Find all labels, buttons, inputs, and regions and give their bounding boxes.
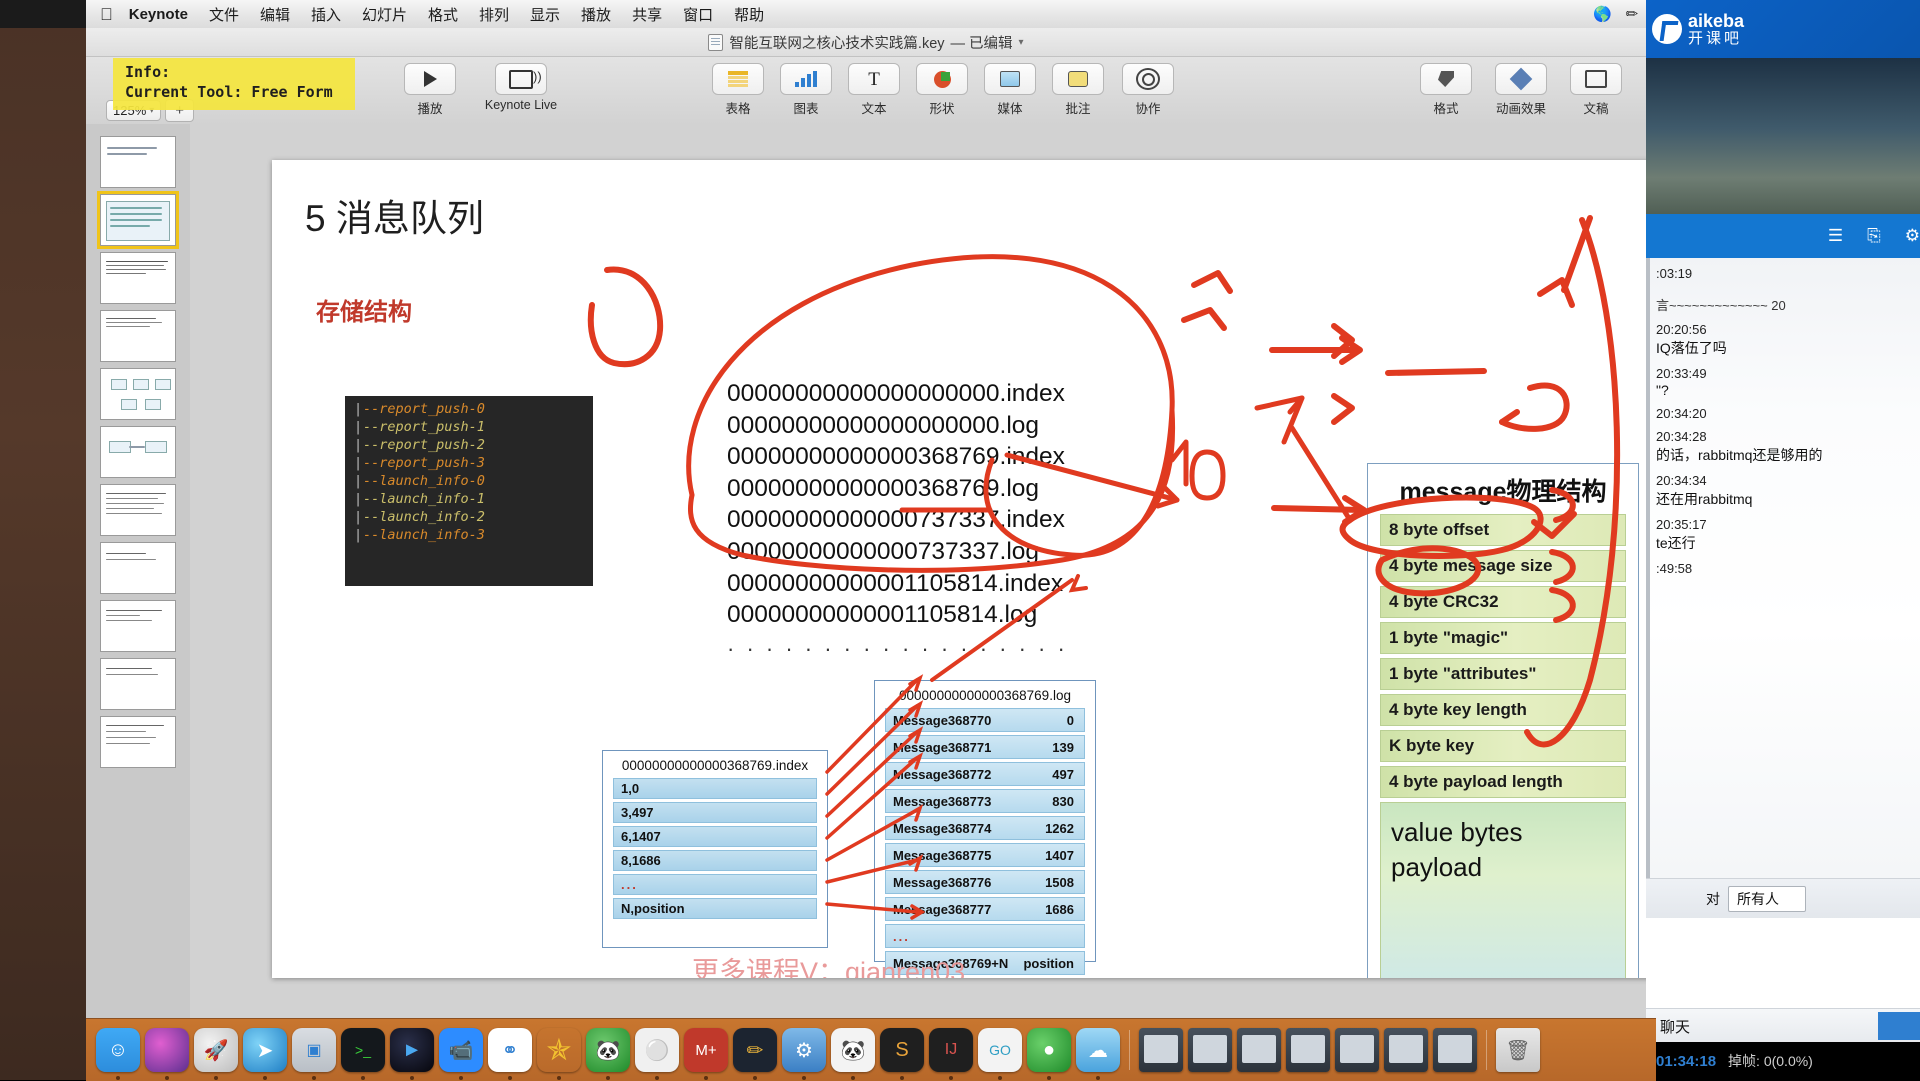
log-row-offset: 0: [1067, 713, 1074, 728]
log-row-name: Message368774: [893, 821, 991, 836]
payload-line-1: value bytes: [1391, 815, 1625, 850]
code-line: --launch_info-3: [345, 526, 593, 544]
code-line: --launch_info-2: [345, 508, 593, 526]
evernote-icon[interactable]: 🐼: [586, 1028, 630, 1072]
slide-subtitle: 存储结构: [316, 292, 412, 327]
siri-icon[interactable]: [145, 1028, 189, 1072]
index-row: 3,497: [613, 802, 817, 823]
toolbar-text-button[interactable]: T 文本: [842, 63, 906, 117]
brand-sub: 开课吧: [1688, 31, 1744, 47]
index-row: N,position: [613, 898, 817, 919]
log-row-name: Message368773: [893, 794, 991, 809]
message-field-row: 4 byte message size: [1380, 550, 1626, 582]
code-line: --launch_info-0: [345, 472, 593, 490]
chat-entry: :49:58: [1646, 561, 1920, 576]
window-titlebar: 智能互联网之核心技术实践篇.key — 已编辑 ▾: [86, 28, 1646, 57]
apple-menu-icon[interactable]: : [100, 6, 113, 23]
chat-time: :03:19: [1656, 266, 1914, 281]
chat-time: 20:35:17: [1656, 517, 1914, 532]
shape-icon: [916, 63, 968, 95]
file-list-item: 00000000000001105814.log: [727, 599, 1068, 631]
onedrive-icon[interactable]: ☁: [1076, 1028, 1120, 1072]
keynote-window: 智能互联网之核心技术实践篇.key — 已编辑 ▾ 125% ▾ + 缩放 添加…: [86, 28, 1646, 1018]
log-row-name: Message368776: [893, 875, 991, 890]
chat-recipient-row: 对 所有人: [1646, 878, 1920, 919]
animate-icon: [1495, 63, 1547, 95]
toolbar-shape-label: 形状: [929, 98, 954, 117]
play-icon: [404, 63, 456, 95]
chart-icon: [780, 63, 832, 95]
menu-bar:  Keynote 文件 编辑 插入 幻灯片 格式 排列 显示 播放 共享 窗口…: [86, 0, 1920, 29]
file-list-item: 00000000000000000000.log: [727, 410, 1068, 442]
status-bar: 01:34:18 掉帧: 0(0.0%): [1646, 1042, 1920, 1080]
chat-bottom-bar: 聊天: [1646, 1008, 1920, 1043]
window-6[interactable]: [1384, 1028, 1428, 1072]
slide-thumbnail[interactable]: [100, 136, 176, 188]
chat-message: 的话，rabbitmq还是够用的: [1656, 445, 1914, 465]
log-table-box: 00000000000000368769.log Message368770 0…: [874, 680, 1096, 962]
message-field-row: 4 byte key length: [1380, 694, 1626, 726]
log-row-offset: 497: [1052, 767, 1074, 782]
log-row: Message368770 0: [885, 708, 1085, 732]
window-title: 智能互联网之核心技术实践篇.key — 已编辑 ▾: [708, 32, 1023, 53]
screen-share-icon[interactable]: ⎘: [1867, 226, 1881, 246]
log-row-offset: 1686: [1045, 902, 1074, 917]
toolbar-collaborate-button[interactable]: 协作: [1116, 63, 1180, 117]
comment-icon: [1052, 63, 1104, 95]
menu-item-format[interactable]: 格式: [428, 4, 458, 25]
index-row: 1,0: [613, 778, 817, 799]
slide-thumbnail-selected[interactable]: [100, 194, 176, 246]
chevron-down-icon[interactable]: ▾: [1019, 37, 1024, 48]
desktop-left-strip: [0, 0, 86, 1080]
dock-separator: [1486, 1030, 1487, 1070]
log-row-name: Message368771: [893, 740, 991, 755]
menu-item-insert[interactable]: 插入: [311, 4, 341, 25]
message-field-row: 8 byte offset: [1380, 514, 1626, 546]
desktop-left-top: [0, 0, 86, 28]
slide-thumbnail[interactable]: [100, 600, 176, 652]
keynote-live-icon: [495, 63, 547, 95]
photos-icon[interactable]: ✯: [537, 1028, 581, 1072]
zoom-icon[interactable]: 📹: [439, 1028, 483, 1072]
chat-recipient-label: 对: [1706, 889, 1720, 909]
index-row: 8,1686: [613, 850, 817, 871]
chat-entry: 20:34:28 的话，rabbitmq还是够用的: [1646, 429, 1920, 465]
toolbar-chart-button[interactable]: 图表: [774, 63, 838, 117]
chat-entry: 20:20:56 IQ落伍了吗: [1646, 322, 1920, 358]
file-list-ellipsis: · · · · · · · · · · · · · · · · · ·: [727, 635, 1068, 663]
dock: ☺ 🚀 ➤ ▣ >_ ► 📹 ⚭ ✯ 🐼 ⚪ M+ ✏ ⚙ 🐼 S IJ GO …: [86, 1018, 1656, 1081]
file-list-item: 00000000000000737337.log: [727, 536, 1068, 568]
slide-thumbnail[interactable]: [100, 310, 176, 362]
file-list-item: 00000000000000737337.index: [727, 504, 1068, 536]
chat-time: 20:33:49: [1656, 366, 1914, 381]
toolbar-group-inspector: 格式 动画效果 文稿: [1414, 63, 1628, 117]
send-button[interactable]: [1878, 1012, 1920, 1040]
index-row-ellipsis: ...: [613, 874, 817, 895]
go-icon[interactable]: GO: [978, 1028, 1022, 1072]
menu-item-file[interactable]: 文件: [209, 4, 239, 25]
page-title: 5 消息队列: [305, 188, 484, 242]
launchpad-icon[interactable]: 🚀: [194, 1028, 238, 1072]
log-row-offset: 830: [1052, 794, 1074, 809]
toolbar-chart-label: 图表: [793, 98, 818, 117]
toolbar-group-insert: 表格 图表 T 文本 形状 媒体: [706, 63, 1110, 117]
log-row-name: Message368770: [893, 713, 991, 728]
chat-entry: 20:34:20: [1646, 406, 1920, 421]
window-3[interactable]: [1237, 1028, 1281, 1072]
window-5[interactable]: [1335, 1028, 1379, 1072]
code-line: --report_push-2: [345, 436, 593, 454]
toolbar-document-button[interactable]: 文稿: [1564, 63, 1628, 117]
file-list-item: 00000000000001105814.index: [727, 568, 1068, 600]
index-table-title: 00000000000000368769.index: [603, 751, 827, 778]
log-row-offset: position: [1023, 956, 1074, 971]
globe-icon[interactable]: 🌎: [1593, 7, 1612, 22]
chrome-icon[interactable]: ●: [1027, 1028, 1071, 1072]
baidu-netdisk-icon[interactable]: ⚭: [488, 1028, 532, 1072]
brand-mark-icon: [1652, 14, 1682, 44]
slide-thumbnail[interactable]: [100, 542, 176, 594]
brand-name: aikeba: [1688, 12, 1744, 31]
message-field-row: 4 byte CRC32: [1380, 586, 1626, 618]
menu-item-help[interactable]: 帮助: [734, 4, 764, 25]
toolbar-text-label: 文本: [861, 98, 886, 117]
quicktime-icon[interactable]: ►: [390, 1028, 434, 1072]
chat-time: 20:34:20: [1656, 406, 1914, 421]
file-list-item: 00000000000000368769.log: [727, 473, 1068, 505]
toolbar-group-collaborate: 协作: [1116, 63, 1180, 117]
sketch-icon[interactable]: ✏: [733, 1028, 777, 1072]
slide-thumbnail[interactable]: [100, 484, 176, 536]
message-field-row: 4 byte payload length: [1380, 766, 1626, 798]
toolbar-table-button[interactable]: 表格: [706, 63, 770, 117]
menu-item-window[interactable]: 窗口: [683, 4, 713, 25]
message-payload-block: value bytes payload: [1380, 802, 1626, 978]
safari-icon[interactable]: ➤: [243, 1028, 287, 1072]
document-icon: [1570, 63, 1622, 95]
log-row: Message368771 139: [885, 735, 1085, 759]
menu-item-keynote[interactable]: Keynote: [129, 6, 188, 23]
pen-icon[interactable]: ✏: [1626, 7, 1639, 22]
menu-item-play[interactable]: 播放: [581, 4, 611, 25]
chat-message: IQ落伍了吗: [1656, 338, 1914, 358]
slide-thumbnail[interactable]: [100, 426, 176, 478]
menu-item-share[interactable]: 共享: [632, 4, 662, 25]
elapsed-time: 01:34:18: [1656, 1053, 1716, 1070]
chat-time: 20:20:56: [1656, 322, 1914, 337]
chat-entry: 20:34:34 还在用rabbitmq: [1646, 473, 1920, 509]
message-structure-title: message物理结构: [1368, 464, 1638, 514]
log-row-name: Message368775: [893, 848, 991, 863]
slide-canvas[interactable]: 5 消息队列 存储结构 --report_push-0 --report_pus…: [190, 124, 1646, 1018]
chat-time: 20:34:28: [1656, 429, 1914, 444]
slide-thumbnail[interactable]: [100, 716, 176, 768]
file-list-item: 00000000000000000000.index: [727, 378, 1068, 410]
gear-icon[interactable]: ⚙: [1905, 226, 1920, 246]
code-block: --report_push-0 --report_push-1 --report…: [345, 396, 593, 586]
message-field-row: 1 byte "attributes": [1380, 658, 1626, 690]
log-row-offset: 1508: [1045, 875, 1074, 890]
log-row-name: ...: [893, 929, 910, 944]
log-table-title: 00000000000000368769.log: [875, 681, 1095, 708]
window-1[interactable]: [1139, 1028, 1183, 1072]
tooltip-line-1: Info:: [125, 63, 347, 83]
chat-entry: 20:33:49 "?: [1646, 366, 1920, 398]
log-row: Message368774 1262: [885, 816, 1085, 840]
window-2[interactable]: [1188, 1028, 1232, 1072]
toolbar-comment-button[interactable]: 批注: [1046, 63, 1110, 117]
menu-item-slide[interactable]: 幻灯片: [362, 4, 407, 25]
log-row: Message368772 497: [885, 762, 1085, 786]
chat-recipient-select[interactable]: 所有人: [1728, 886, 1806, 912]
log-row: Message368775 1407: [885, 843, 1085, 867]
payload-line-2: payload: [1391, 850, 1625, 885]
keynote-icon[interactable]: ▣: [292, 1028, 336, 1072]
toolbar-format-button[interactable]: 格式: [1414, 63, 1478, 117]
log-row-offset: 1407: [1045, 848, 1074, 863]
chat-tab-label[interactable]: 聊天: [1660, 1016, 1690, 1037]
toolbar-keynote-live-label: Keynote Live: [485, 98, 557, 112]
toolbar-play-button[interactable]: 播放: [398, 63, 462, 117]
code-line: --launch_info-1: [345, 490, 593, 508]
media-icon: [984, 63, 1036, 95]
tooltip-line-2: Current Tool: Free Form: [125, 83, 347, 103]
toolbar-format-label: 格式: [1433, 98, 1458, 117]
chat-time: :49:58: [1656, 561, 1914, 576]
slide-thumbnail[interactable]: [100, 368, 176, 420]
bear-icon[interactable]: M+: [684, 1028, 728, 1072]
desktop:  Keynote 文件 编辑 插入 幻灯片 格式 排列 显示 播放 共享 窗口…: [0, 0, 1920, 1080]
toolbar-group-playback: 播放 Keynote Live: [398, 63, 576, 117]
log-row-name: Message368777: [893, 902, 991, 917]
toolbar-collaborate-label: 协作: [1135, 98, 1160, 117]
log-row: Message368776 1508: [885, 870, 1085, 894]
chat-message: te还行: [1656, 533, 1914, 553]
brand-logo: aikeba 开课吧: [1646, 0, 1920, 58]
menu-item-arrange[interactable]: 排列: [479, 4, 509, 25]
log-row: Message368777 1686: [885, 897, 1085, 921]
slide-thumbnail[interactable]: [100, 658, 176, 710]
toolbar-animate-label: 动画效果: [1496, 98, 1546, 117]
brand-text: aikeba 开课吧: [1688, 12, 1744, 47]
mindnode-icon[interactable]: ⚪: [635, 1028, 679, 1072]
signal-bars-icon[interactable]: ☰: [1828, 226, 1843, 246]
trash-icon[interactable]: 🗑: [1496, 1028, 1540, 1072]
current-slide[interactable]: 5 消息队列 存储结构 --report_push-0 --report_pus…: [272, 160, 1727, 978]
chat-separator: 言~~~~~~~~~~~~~ 20: [1656, 295, 1914, 314]
video-controls-bar: ☰ ⎘ ⚙: [1646, 214, 1920, 258]
index-table-box: 00000000000000368769.index 1,0 3,497 6,1…: [602, 750, 828, 948]
slide-footer-watermark: 更多课程V：qianren03: [692, 950, 965, 978]
chat-entry: :03:19: [1646, 266, 1920, 281]
window-7[interactable]: [1433, 1028, 1477, 1072]
code-line: --report_push-1: [345, 418, 593, 436]
toolbar-keynote-live-button[interactable]: Keynote Live: [466, 63, 576, 117]
chat-time: 20:34:34: [1656, 473, 1914, 488]
chat-entry: 言~~~~~~~~~~~~~ 20: [1646, 295, 1920, 314]
menu-item-edit[interactable]: 编辑: [260, 4, 290, 25]
format-icon: [1420, 63, 1472, 95]
terminal-icon[interactable]: >_: [341, 1028, 385, 1072]
info-tooltip: Info: Current Tool: Free Form: [113, 58, 355, 110]
message-field-row: K byte key: [1380, 730, 1626, 762]
window-title-text: 智能互联网之核心技术实践篇.key: [729, 32, 944, 53]
collaborate-icon: [1122, 63, 1174, 95]
log-row: Message368773 830: [885, 789, 1085, 813]
log-row-name: Message368772: [893, 767, 991, 782]
code-line: --report_push-0: [345, 400, 593, 418]
window-4[interactable]: [1286, 1028, 1330, 1072]
finder-icon[interactable]: ☺: [96, 1028, 140, 1072]
segment-file-list: 00000000000000000000.index 0000000000000…: [727, 378, 1068, 663]
right-panel: aikeba 开课吧 ☰ ⎘ ⚙ :03:19 言~~~~~~~~~~~~~ 2…: [1646, 0, 1920, 1080]
charles-icon[interactable]: 🐼: [831, 1028, 875, 1072]
toolbar-media-label: 媒体: [997, 98, 1022, 117]
toolbar-shape-button[interactable]: 形状: [910, 63, 974, 117]
chat-message: "?: [1656, 382, 1914, 398]
sublime-icon[interactable]: S: [880, 1028, 924, 1072]
toolbar-comment-label: 批注: [1065, 98, 1090, 117]
chat-entry: 20:35:17 te还行: [1646, 517, 1920, 553]
message-field-row: 1 byte "magic": [1380, 622, 1626, 654]
xmind-icon[interactable]: ⚙: [782, 1028, 826, 1072]
window-edited-state: — 已编辑: [951, 32, 1013, 53]
chat-input[interactable]: [1646, 918, 1920, 1008]
code-line: --report_push-3: [345, 454, 593, 472]
text-icon: T: [848, 63, 900, 95]
chat-scrollbar[interactable]: [1646, 258, 1650, 878]
log-row-offset: 1262: [1045, 821, 1074, 836]
index-row: 6,1407: [613, 826, 817, 847]
table-icon: [712, 63, 764, 95]
file-list-item: 00000000000000368769.index: [727, 441, 1068, 473]
slide-navigator[interactable]: [86, 124, 191, 1018]
toolbar-table-label: 表格: [725, 98, 750, 117]
toolbar-media-button[interactable]: 媒体: [978, 63, 1042, 117]
slide-thumbnail[interactable]: [100, 252, 176, 304]
dock-separator: [1129, 1030, 1130, 1070]
log-row-ellipsis: ...: [885, 924, 1085, 948]
log-row-offset: 139: [1052, 740, 1074, 755]
document-icon: [708, 34, 723, 51]
toolbar-play-label: 播放: [417, 98, 442, 117]
video-preview[interactable]: ☰ ⎘ ⚙: [1646, 58, 1920, 258]
toolbar-animate-button[interactable]: 动画效果: [1482, 63, 1560, 117]
chat-panel[interactable]: :03:19 言~~~~~~~~~~~~~ 20 20:20:56 IQ落伍了吗…: [1646, 258, 1920, 878]
menu-item-view[interactable]: 显示: [530, 4, 560, 25]
chat-message: 还在用rabbitmq: [1656, 489, 1914, 509]
toolbar-document-label: 文稿: [1583, 98, 1608, 117]
intellij-icon[interactable]: IJ: [929, 1028, 973, 1072]
dropped-frames: 掉帧: 0(0.0%): [1728, 1051, 1813, 1071]
message-structure-box: message物理结构 8 byte offset 4 byte message…: [1367, 463, 1639, 978]
